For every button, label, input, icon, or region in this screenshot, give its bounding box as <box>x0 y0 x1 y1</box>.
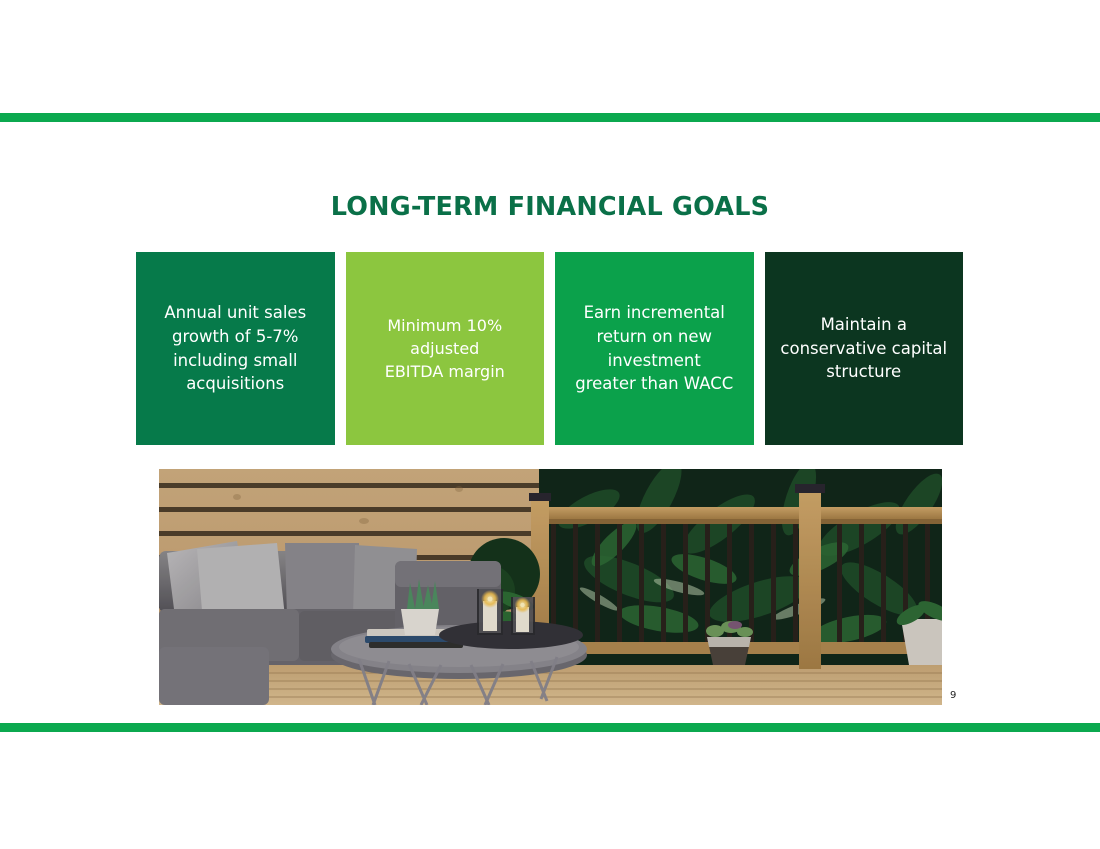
goal-box-text: Minimum 10% adjusted EBITDA margin <box>385 314 505 384</box>
goal-box-capital-structure: Maintain a conservative capital structur… <box>765 252 964 445</box>
slide-canvas: LONG-TERM FINANCIAL GOALS Annual unit sa… <box>0 0 1100 849</box>
goal-box-text: Maintain a conservative capital structur… <box>780 313 947 385</box>
goal-box-text: Earn incremental return on new investmen… <box>575 301 733 397</box>
goal-box-annual-unit-sales: Annual unit sales growth of 5-7% includi… <box>136 252 335 445</box>
goal-box-ebitda-margin: Minimum 10% adjusted EBITDA margin <box>346 252 545 445</box>
bottom-accent-rule <box>0 723 1100 732</box>
page-title: LONG-TERM FINANCIAL GOALS <box>0 192 1100 222</box>
deck-patio-illustration <box>159 469 942 705</box>
goal-box-return-on-investment: Earn incremental return on new investmen… <box>555 252 754 445</box>
goal-box-row: Annual unit sales growth of 5-7% includi… <box>136 252 963 445</box>
page-number: 9 <box>950 690 956 701</box>
goal-box-text: Annual unit sales growth of 5-7% includi… <box>164 301 306 397</box>
deck-patio-photo <box>159 469 942 705</box>
top-accent-rule <box>0 113 1100 122</box>
